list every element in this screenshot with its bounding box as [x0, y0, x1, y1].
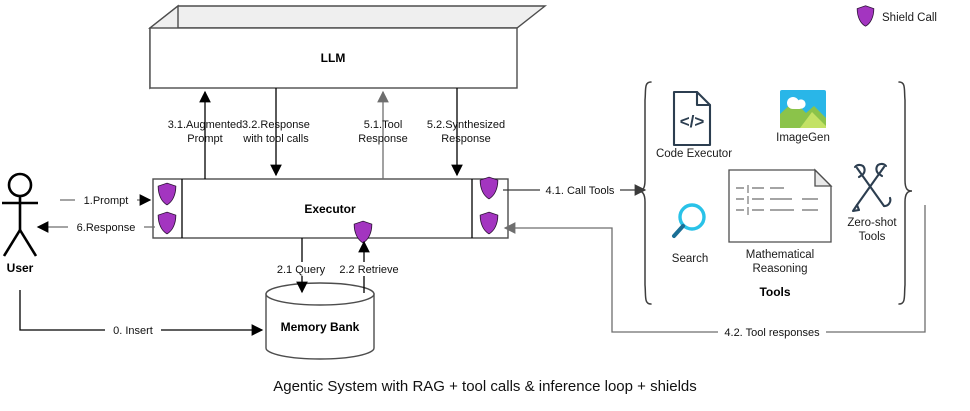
node-user[interactable]: User [2, 174, 38, 275]
edge-label: 3.2.Response [242, 119, 310, 131]
edge-label: 1.Prompt [84, 195, 129, 207]
tool-zero-shot[interactable]: Zero-shot Tools [847, 164, 897, 243]
tool-label: Search [672, 253, 708, 265]
llm-label: LLM [321, 51, 346, 65]
edge-label: 2.2 Retrieve [339, 264, 398, 276]
edge-label: 6.Response [77, 222, 136, 234]
tool-label: Code Executor [656, 148, 732, 160]
edge-label: Prompt [187, 133, 222, 145]
edge-insert: 0. Insert [20, 290, 262, 337]
edge-response-with-tool-calls: 3.2.Response with tool calls [242, 88, 310, 175]
tool-label: Mathematical [746, 249, 814, 261]
edge-label: 2.1 Query [277, 264, 326, 276]
tool-search[interactable]: Search [672, 205, 708, 265]
shield-icon [857, 6, 874, 26]
edge-label: 5.2.Synthesized [427, 119, 505, 131]
edge-label: 4.2. Tool responses [724, 327, 820, 339]
edge-synthesized-response: 5.2.Synthesized Response [427, 88, 505, 175]
edge-augmented-prompt: 3.1.Augmented Prompt [168, 92, 243, 179]
edge-label: Response [358, 133, 408, 145]
tool-math-reasoning[interactable]: Mathematical Reasoning [729, 170, 831, 275]
diagram-caption: Agentic System with RAG + tool calls & i… [273, 378, 697, 395]
node-llm[interactable]: LLM [150, 6, 545, 88]
tool-label: Reasoning [753, 263, 808, 275]
node-executor[interactable]: Executor [153, 179, 508, 238]
edge-label: Response [441, 133, 491, 145]
edge-label: 3.1.Augmented [168, 119, 243, 131]
executor-label: Executor [304, 202, 356, 216]
tools-group-title: Tools [759, 285, 790, 299]
crossed-tools-icon [853, 164, 890, 211]
legend-shield-call: Shield Call [857, 6, 937, 26]
tool-label: ImageGen [776, 132, 830, 144]
edge-label: 0. Insert [113, 325, 153, 337]
tool-imagegen[interactable]: ImageGen [776, 90, 830, 144]
tool-label: Tools [859, 231, 886, 243]
edge-label: 5.1.Tool [364, 119, 403, 131]
memory-bank-label: Memory Bank [281, 320, 360, 334]
edge-tool-response: 5.1.Tool Response [358, 92, 408, 179]
tool-label: Zero-shot [847, 217, 897, 229]
edge-response: 6.Response [38, 220, 155, 234]
code-glyph: </> [680, 112, 705, 131]
edge-call-tools: 4.1. Call Tools [503, 183, 645, 197]
edge-label: 4.1. Call Tools [546, 185, 615, 197]
edge-prompt: 1.Prompt [60, 193, 150, 207]
tool-code-executor[interactable]: </> Code Executor [656, 92, 732, 160]
legend-label: Shield Call [882, 12, 937, 24]
diagram-canvas: LLM Executor 3.1.Augmented Prompt 3.2.Re… [0, 0, 970, 411]
shield-icon [354, 221, 372, 243]
magnifier-handle [674, 226, 683, 236]
user-label: User [7, 261, 34, 275]
node-memory-bank[interactable]: Memory Bank [266, 283, 374, 359]
edge-label: with tool calls [242, 133, 309, 145]
